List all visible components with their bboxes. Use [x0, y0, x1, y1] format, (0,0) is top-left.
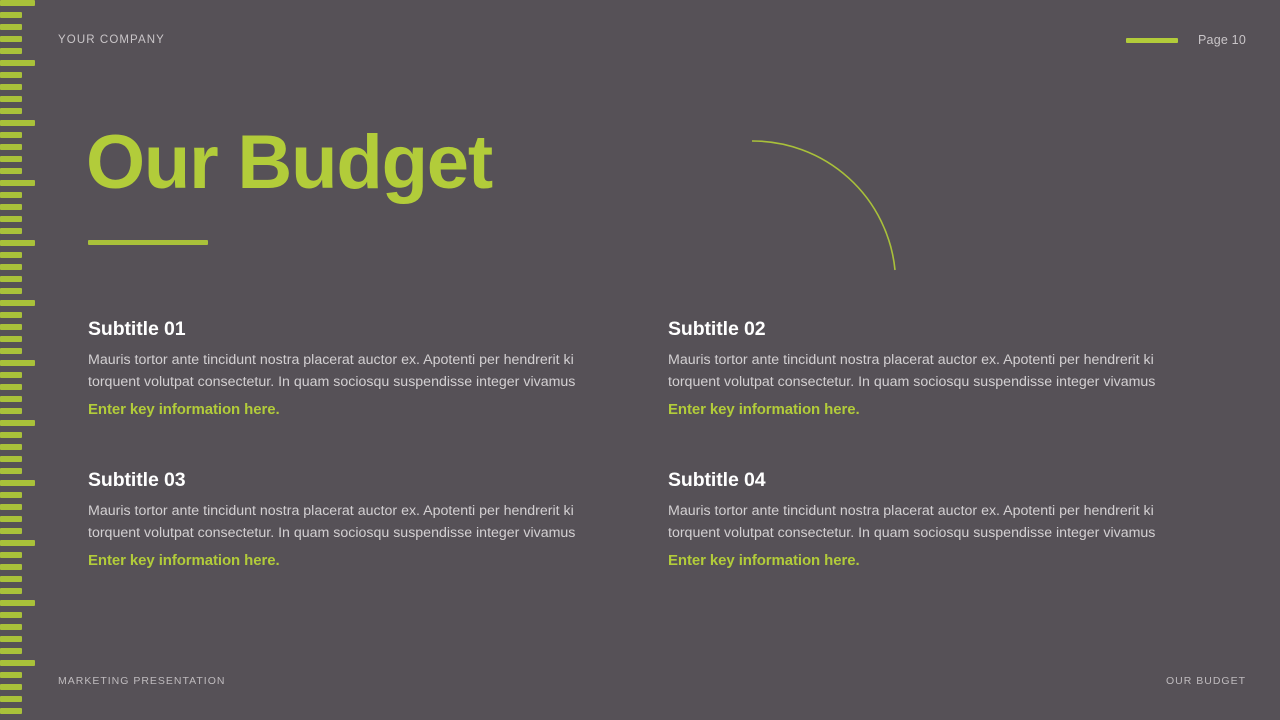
- ruler-tick-minor: [0, 408, 22, 414]
- ruler-tick-minor: [0, 264, 22, 270]
- ruler-tick-major: [0, 420, 35, 426]
- ruler-tick-major: [0, 0, 35, 6]
- ruler-tick-minor: [0, 336, 22, 342]
- ruler-tick-minor: [0, 684, 22, 690]
- ruler-tick-minor: [0, 12, 22, 18]
- ruler-tick-major: [0, 360, 35, 366]
- block-title: Subtitle 01: [88, 318, 608, 341]
- ruler-tick-minor: [0, 372, 22, 378]
- ruler-tick-minor: [0, 636, 22, 642]
- ruler-tick-minor: [0, 552, 22, 558]
- ruler-tick-minor: [0, 672, 22, 678]
- ruler-tick-minor: [0, 324, 22, 330]
- header-company-label: YOUR COMPANY: [58, 34, 165, 46]
- ruler-tick-minor: [0, 36, 22, 42]
- ruler-tick-major: [0, 480, 35, 486]
- block-title: Subtitle 03: [88, 469, 608, 492]
- block-cta: Enter key information here.: [88, 552, 608, 569]
- ruler-tick-minor: [0, 528, 22, 534]
- ruler-tick-minor: [0, 504, 22, 510]
- ruler-tick-minor: [0, 84, 22, 90]
- footer-right-label: OUR BUDGET: [1166, 675, 1246, 687]
- footer-left-label: MARKETING PRESENTATION: [58, 675, 225, 687]
- ruler-tick-minor: [0, 288, 22, 294]
- page-title: Our Budget: [86, 125, 492, 201]
- ruler-tick-minor: [0, 132, 22, 138]
- content-block-3: Subtitle 03 Mauris tortor ante tincidunt…: [88, 469, 608, 569]
- ruler-tick-minor: [0, 168, 22, 174]
- ruler-tick-minor: [0, 156, 22, 162]
- ruler-tick-minor: [0, 432, 22, 438]
- title-underline-bar: [88, 240, 208, 245]
- ruler-tick-minor: [0, 588, 22, 594]
- ruler-tick-minor: [0, 648, 22, 654]
- ruler-tick-major: [0, 120, 35, 126]
- block-body: Mauris tortor ante tincidunt nostra plac…: [88, 501, 608, 544]
- content-block-2: Subtitle 02 Mauris tortor ante tincidunt…: [668, 318, 1188, 469]
- block-cta: Enter key information here.: [88, 401, 608, 418]
- block-cta: Enter key information here.: [668, 401, 1188, 418]
- slide-canvas: YOUR COMPANY Page 10 Our Budget Subtitle…: [0, 0, 1280, 720]
- ruler-tick-minor: [0, 96, 22, 102]
- ruler-tick-minor: [0, 144, 22, 150]
- ruler-tick-minor: [0, 216, 22, 222]
- ruler-tick-minor: [0, 108, 22, 114]
- ruler-tick-minor: [0, 348, 22, 354]
- header-page-group: Page 10: [1126, 33, 1246, 47]
- block-body: Mauris tortor ante tincidunt nostra plac…: [88, 350, 608, 393]
- page-accent-bar: [1126, 38, 1178, 43]
- ruler-decoration: [0, 0, 40, 720]
- ruler-tick-minor: [0, 444, 22, 450]
- ruler-tick-minor: [0, 276, 22, 282]
- content-block-1: Subtitle 01 Mauris tortor ante tincidunt…: [88, 318, 608, 469]
- block-body: Mauris tortor ante tincidunt nostra plac…: [668, 501, 1188, 544]
- ruler-tick-minor: [0, 624, 22, 630]
- ruler-tick-minor: [0, 252, 22, 258]
- ruler-tick-major: [0, 540, 35, 546]
- ruler-tick-minor: [0, 228, 22, 234]
- ruler-tick-minor: [0, 192, 22, 198]
- ruler-tick-minor: [0, 492, 22, 498]
- ruler-tick-major: [0, 180, 35, 186]
- ruler-tick-minor: [0, 24, 22, 30]
- ruler-tick-major: [0, 240, 35, 246]
- block-cta: Enter key information here.: [668, 552, 1188, 569]
- block-body: Mauris tortor ante tincidunt nostra plac…: [668, 350, 1188, 393]
- ruler-tick-minor: [0, 516, 22, 522]
- content-grid: Subtitle 01 Mauris tortor ante tincidunt…: [88, 318, 1200, 569]
- ruler-tick-minor: [0, 204, 22, 210]
- ruler-tick-minor: [0, 456, 22, 462]
- ruler-tick-minor: [0, 564, 22, 570]
- content-block-4: Subtitle 04 Mauris tortor ante tincidunt…: [668, 469, 1188, 569]
- ruler-tick-minor: [0, 612, 22, 618]
- block-title: Subtitle 02: [668, 318, 1188, 341]
- quarter-arc-decoration: [740, 128, 910, 283]
- ruler-tick-major: [0, 660, 35, 666]
- ruler-tick-minor: [0, 468, 22, 474]
- ruler-tick-major: [0, 60, 35, 66]
- page-number-label: Page 10: [1198, 33, 1246, 47]
- ruler-tick-minor: [0, 384, 22, 390]
- ruler-tick-minor: [0, 396, 22, 402]
- ruler-tick-major: [0, 300, 35, 306]
- block-title: Subtitle 04: [668, 469, 1188, 492]
- ruler-tick-minor: [0, 708, 22, 714]
- ruler-tick-minor: [0, 48, 22, 54]
- ruler-tick-minor: [0, 696, 22, 702]
- ruler-tick-minor: [0, 72, 22, 78]
- ruler-tick-minor: [0, 312, 22, 318]
- ruler-tick-minor: [0, 576, 22, 582]
- ruler-tick-major: [0, 600, 35, 606]
